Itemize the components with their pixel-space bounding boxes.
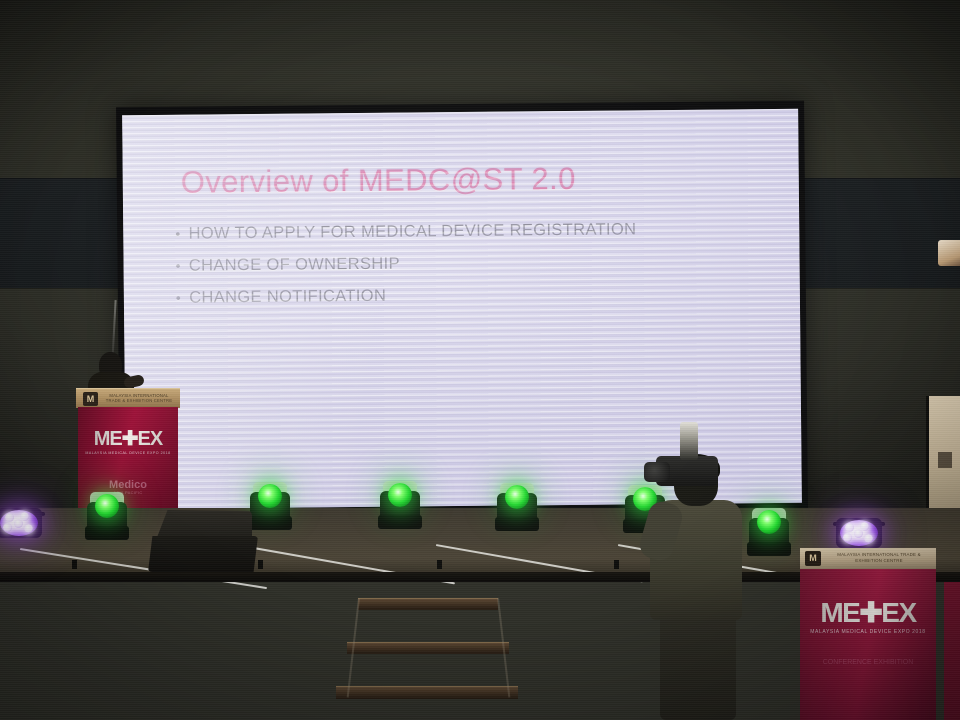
stage-steps xyxy=(336,598,518,720)
light-lens-green xyxy=(757,510,781,534)
light-base xyxy=(378,515,422,529)
photographer-legs xyxy=(660,612,736,720)
par-lens-purple xyxy=(0,510,38,536)
podium-top-panel: M MALAYSIA INTERNATIONAL TRADE & EXHIBIT… xyxy=(76,388,180,408)
banner-venue-header: M MALAYSIA INTERNATIONAL TRADE & EXHIBIT… xyxy=(800,548,936,569)
light-lens-green xyxy=(388,483,412,507)
slide-bullet-1-text: HOW TO APPLY FOR MEDICAL DEVICE REGISTRA… xyxy=(188,220,636,243)
light-lens-green xyxy=(95,494,119,518)
slide-bullet-2-text: CHANGE OF OWNERSHIP xyxy=(189,255,400,276)
popup-banner-tan xyxy=(926,396,960,522)
slide-bullet-3: • CHANGE NOTIFICATION xyxy=(176,284,637,307)
light-base xyxy=(85,526,129,540)
stage-step-3 xyxy=(336,686,518,699)
stage-monitor-speaker xyxy=(148,510,258,572)
par-led xyxy=(854,529,863,538)
par-led xyxy=(5,513,14,522)
slide-bullet-2: • CHANGE OF OWNERSHIP xyxy=(175,252,636,275)
moving-head-light-1 xyxy=(84,492,130,540)
par-led xyxy=(24,524,33,533)
stage-step-1 xyxy=(358,598,498,610)
par-lens-purple xyxy=(840,520,878,546)
light-lens-green xyxy=(505,485,529,509)
par-light-left xyxy=(0,502,42,544)
popup-banner-mark xyxy=(938,452,952,468)
floor-marker-3 xyxy=(437,560,442,569)
medex-rollup-banner: M MALAYSIA INTERNATIONAL TRADE & EXHIBIT… xyxy=(800,548,936,720)
photographer-with-camera xyxy=(620,440,760,720)
banner-body: ME✚EX MALAYSIA MEDICAL DEVICE EXPO 2018 … xyxy=(800,569,936,720)
light-base xyxy=(495,517,539,531)
venue-crest-icon: M xyxy=(83,392,98,406)
venue-crest-icon: M xyxy=(805,551,821,566)
light-lens-green xyxy=(258,484,282,508)
podium-venue-text: MALAYSIA INTERNATIONAL TRADE & EXHIBITIO… xyxy=(104,393,174,403)
wall-object-right xyxy=(938,240,960,266)
moving-head-light-4 xyxy=(494,483,540,531)
bullet-marker-icon: • xyxy=(176,259,181,273)
banner-venue-text: MALAYSIA INTERNATIONAL TRADE & EXHIBITIO… xyxy=(826,552,932,563)
camera-flash xyxy=(680,422,698,460)
stage-step-2 xyxy=(347,642,509,654)
slide-bullet-1: • HOW TO APPLY FOR MEDICAL DEVICE REGIST… xyxy=(175,220,636,243)
moving-head-light-3 xyxy=(377,481,423,529)
par-led xyxy=(14,519,23,528)
slide-bullet-list: • HOW TO APPLY FOR MEDICAL DEVICE REGIST… xyxy=(175,220,637,320)
par-led xyxy=(3,523,12,532)
floor-marker-2 xyxy=(258,560,263,569)
floor-marker-4 xyxy=(614,560,619,569)
bullet-marker-icon: • xyxy=(176,291,181,305)
banner-shading xyxy=(800,569,936,720)
par-led xyxy=(864,534,873,543)
camera-lens xyxy=(644,462,670,482)
par-led xyxy=(845,523,854,532)
monitor-top-face xyxy=(156,510,252,540)
conference-stage-photo: Overview of MEDC@ST 2.0 • HOW TO APPLY F… xyxy=(0,0,960,720)
slide-title: Overview of MEDC@ST 2.0 xyxy=(181,161,576,201)
slide-bullet-3-text: CHANGE NOTIFICATION xyxy=(189,287,386,308)
floor-marker-1 xyxy=(72,560,77,569)
monitor-bottom-face xyxy=(148,536,258,572)
bullet-marker-icon: • xyxy=(175,227,180,241)
par-led xyxy=(843,533,852,542)
